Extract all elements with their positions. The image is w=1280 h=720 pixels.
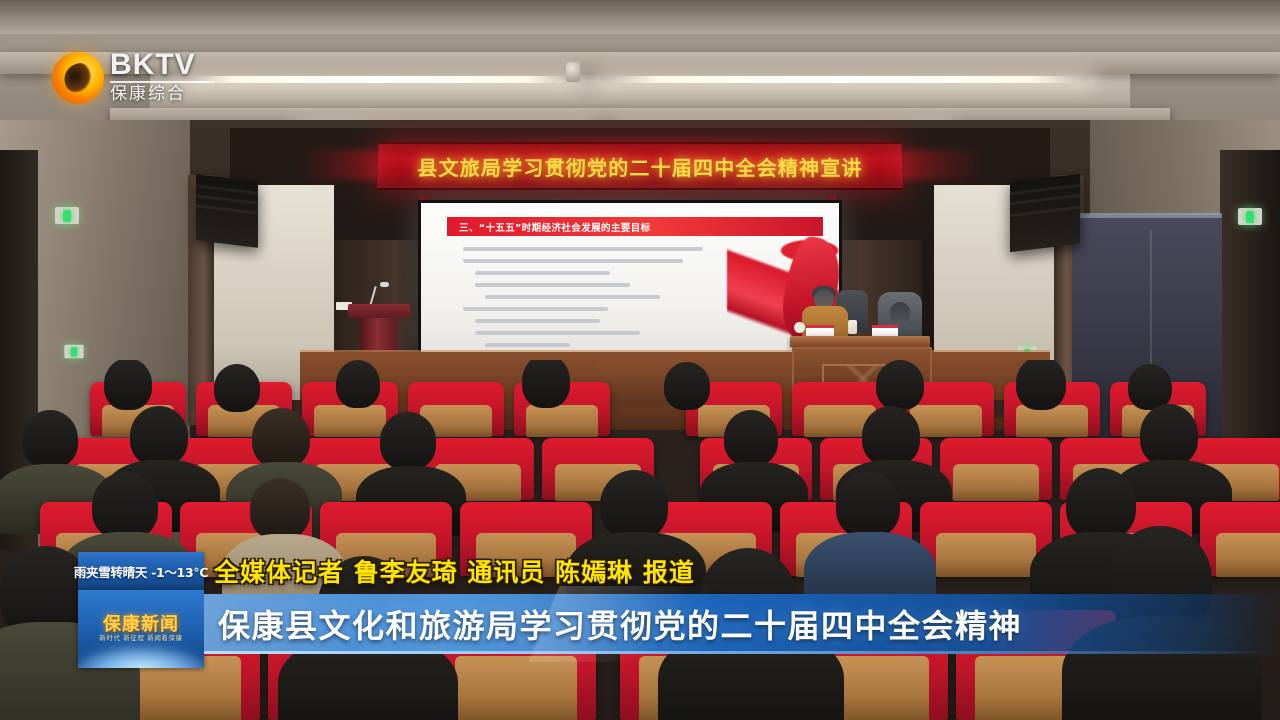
- audience-head: [214, 364, 260, 412]
- head-table-top: [790, 336, 930, 347]
- microphone-head-icon: [380, 282, 389, 287]
- audience-head: [836, 472, 900, 538]
- ceiling-beam-1: [0, 0, 1280, 34]
- loudspeaker-icon: [196, 174, 258, 248]
- led-banner-glow-right: [898, 150, 984, 180]
- smoke-detector-icon: [566, 62, 580, 82]
- led-banner: 县文旅局学习贯彻党的二十届四中全会精神宣讲: [377, 142, 902, 190]
- logo-divider: [110, 81, 214, 83]
- broadcast-frame: 县文旅局学习贯彻党的二十届四中全会精神宣讲 三、“十五五”时期经济社会发展的主要…: [0, 0, 1280, 720]
- audience-head: [664, 362, 710, 410]
- lectern-top: [348, 304, 410, 318]
- slide-heading-text: 三、“十五五”时期经济社会发展的主要目标: [459, 220, 651, 234]
- exit-sign-icon: [1238, 208, 1262, 225]
- projection-screen: 三、“十五五”时期经济社会发展的主要目标: [418, 200, 842, 356]
- headline-text: 保康县文化和旅游局学习贯彻党的二十届四中全会精神: [204, 601, 1022, 647]
- audience-head: [600, 470, 668, 540]
- led-banner-glow-left: [300, 150, 382, 180]
- program-logo: 保康新闻 新时代 新征程 新闻看保康: [78, 590, 204, 668]
- loudspeaker-icon: [1010, 174, 1080, 253]
- audience-head: [1128, 364, 1172, 410]
- audience-head: [862, 406, 920, 466]
- audience-head: [336, 360, 380, 408]
- audience-head: [92, 472, 158, 540]
- office-chair-backrest: [890, 302, 910, 326]
- ceiling-light-strip: [600, 76, 1090, 83]
- audience-head: [22, 410, 78, 468]
- exit-sign-icon: [55, 207, 79, 224]
- reporter-credit-text: 全媒体记者 鲁李友琦 通讯员 陈嫣琳 报道: [214, 553, 695, 589]
- headline-banner: 保康县文化和旅游局学习贯彻党的二十届四中全会精神: [204, 594, 1280, 654]
- audience-head: [380, 412, 436, 470]
- channel-abbr: BKTV: [110, 50, 214, 80]
- audience-head: [250, 478, 310, 540]
- audience-head: [104, 360, 152, 410]
- audience-head: [252, 408, 310, 468]
- audience-head: [130, 406, 188, 466]
- audience-head: [1140, 404, 1198, 466]
- lower-third: 雨夹雪转晴天 -1～13℃ 保康新闻 新时代 新征程 新闻看保康 全媒体记者 鲁…: [0, 548, 1280, 668]
- audience-head: [522, 360, 570, 408]
- weather-badge: 雨夹雪转晴天 -1～13℃: [78, 552, 204, 590]
- audience-head: [724, 410, 778, 466]
- ceiling-light-strip: [185, 76, 575, 83]
- globe-glow-icon: [78, 638, 204, 668]
- audience-head: [1066, 468, 1136, 540]
- channel-name: 保康综合: [110, 85, 214, 104]
- flame-circle-icon: [52, 52, 104, 104]
- slide-body-lines: [463, 247, 713, 353]
- audience-head: [1016, 360, 1066, 410]
- exit-sign-icon: [64, 345, 83, 359]
- audience-head: [876, 360, 924, 410]
- tea-cup: [794, 322, 805, 333]
- program-logo-subtitle: 新时代 新征程 新闻看保康: [78, 632, 204, 642]
- reporter-credit: 全媒体记者 鲁李友琦 通讯员 陈嫣琳 报道: [214, 552, 695, 590]
- led-banner-text: 县文旅局学习贯彻党的二十届四中全会精神宣讲: [417, 152, 863, 181]
- channel-logo-bug: BKTV 保康综合: [52, 48, 212, 118]
- seat: [940, 438, 1052, 500]
- water-bottle: [848, 320, 857, 334]
- right-door-header: [1072, 213, 1222, 218]
- weather-text: 雨夹雪转晴天 -1～13℃: [74, 562, 208, 581]
